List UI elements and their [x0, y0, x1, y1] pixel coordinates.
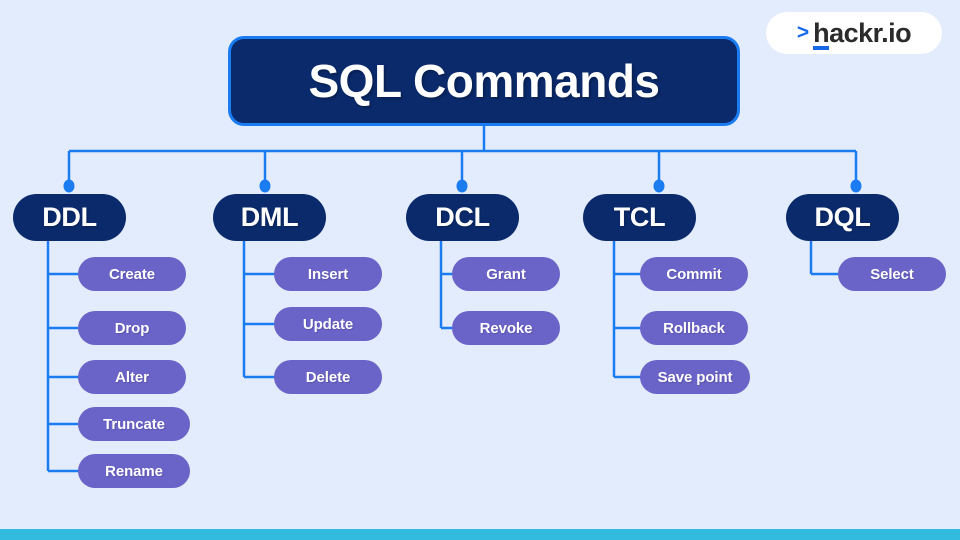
command-node-delete[interactable]: Delete: [274, 360, 382, 394]
command-node-revoke[interactable]: Revoke: [452, 311, 560, 345]
command-node-rename[interactable]: Rename: [78, 454, 190, 488]
command-label-grant: Grant: [486, 266, 526, 283]
node-dot-tcl: [654, 180, 665, 193]
command-label-save-point: Save point: [658, 369, 733, 386]
command-node-insert[interactable]: Insert: [274, 257, 382, 291]
command-node-create[interactable]: Create: [78, 257, 186, 291]
command-node-save-point[interactable]: Save point: [640, 360, 750, 394]
command-node-commit[interactable]: Commit: [640, 257, 748, 291]
command-label-delete: Delete: [306, 369, 350, 386]
command-node-drop[interactable]: Drop: [78, 311, 186, 345]
command-label-alter: Alter: [115, 369, 149, 386]
hackr-io-logo[interactable]: > hackr.io: [766, 12, 942, 54]
category-node-ddl[interactable]: DDL: [13, 194, 126, 241]
chevron-right-icon: >: [797, 22, 809, 43]
command-node-update[interactable]: Update: [274, 307, 382, 341]
command-node-truncate[interactable]: Truncate: [78, 407, 190, 441]
command-node-select[interactable]: Select: [838, 257, 946, 291]
node-dot-dql: [851, 180, 862, 193]
category-label-dml: DML: [241, 202, 299, 233]
node-dot-dcl: [457, 180, 468, 193]
command-label-drop: Drop: [115, 320, 150, 337]
category-label-ddl: DDL: [42, 202, 97, 233]
command-label-revoke: Revoke: [480, 320, 533, 337]
bottom-accent-bar: [0, 529, 960, 540]
category-label-tcl: TCL: [614, 202, 666, 233]
category-label-dql: DQL: [814, 202, 870, 233]
node-dot-ddl: [64, 180, 75, 193]
node-dot-dml: [260, 180, 271, 193]
category-node-tcl[interactable]: TCL: [583, 194, 696, 241]
command-label-update: Update: [303, 316, 353, 333]
command-label-rollback: Rollback: [663, 320, 725, 337]
command-label-create: Create: [109, 266, 155, 283]
command-node-alter[interactable]: Alter: [78, 360, 186, 394]
command-label-rename: Rename: [105, 463, 163, 480]
diagram-canvas: > hackr.io SQL Commands: [0, 0, 960, 540]
command-node-rollback[interactable]: Rollback: [640, 311, 748, 345]
command-label-truncate: Truncate: [103, 416, 165, 433]
category-label-dcl: DCL: [435, 202, 490, 233]
diagram-title-box: SQL Commands: [228, 36, 740, 126]
command-label-insert: Insert: [308, 266, 348, 283]
command-label-select: Select: [870, 266, 914, 283]
category-node-dql[interactable]: DQL: [786, 194, 899, 241]
logo-wordmark: hackr.io: [813, 20, 911, 47]
command-node-grant[interactable]: Grant: [452, 257, 560, 291]
category-node-dcl[interactable]: DCL: [406, 194, 519, 241]
page-title: SQL Commands: [309, 54, 660, 108]
command-label-commit: Commit: [666, 266, 721, 283]
category-node-dml[interactable]: DML: [213, 194, 326, 241]
